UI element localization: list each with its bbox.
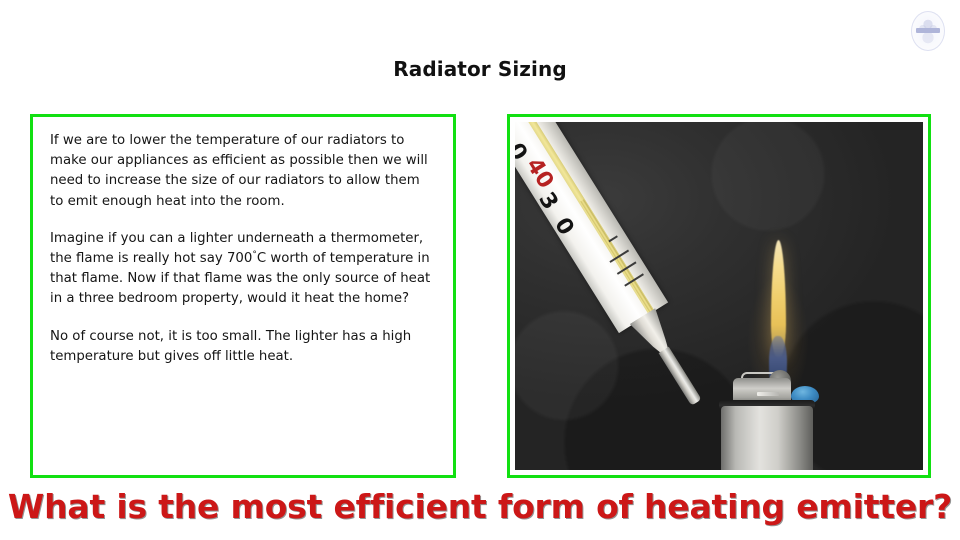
page-title: Radiator Sizing — [0, 57, 960, 81]
paragraph-3: No of course not, it is too small. The l… — [50, 327, 436, 367]
paragraph-1: If we are to lower the temperature of ou… — [50, 131, 436, 212]
paragraph-3-text: No of course not, it is too small. The l… — [50, 329, 411, 364]
bottom-caption-question: What is the most efficient form of heati… — [0, 487, 960, 526]
body-text: If we are to lower the temperature of ou… — [50, 131, 436, 367]
paragraph-2: Imagine if you can a lighter underneath … — [50, 229, 436, 310]
content-image-box: 6 0 40 3 0 — [507, 114, 931, 478]
thermometer-lighter-photo: 6 0 40 3 0 — [515, 122, 923, 470]
lighter-tank-body — [721, 406, 813, 470]
logo-band-icon — [916, 28, 940, 33]
organisation-logo — [903, 6, 955, 54]
paragraph-1-text: If we are to lower the temperature of ou… — [50, 133, 428, 209]
content-text-box: If we are to lower the temperature of ou… — [30, 114, 456, 478]
lighter-graphic — [713, 370, 835, 470]
lighter-cap-slot — [757, 392, 779, 396]
